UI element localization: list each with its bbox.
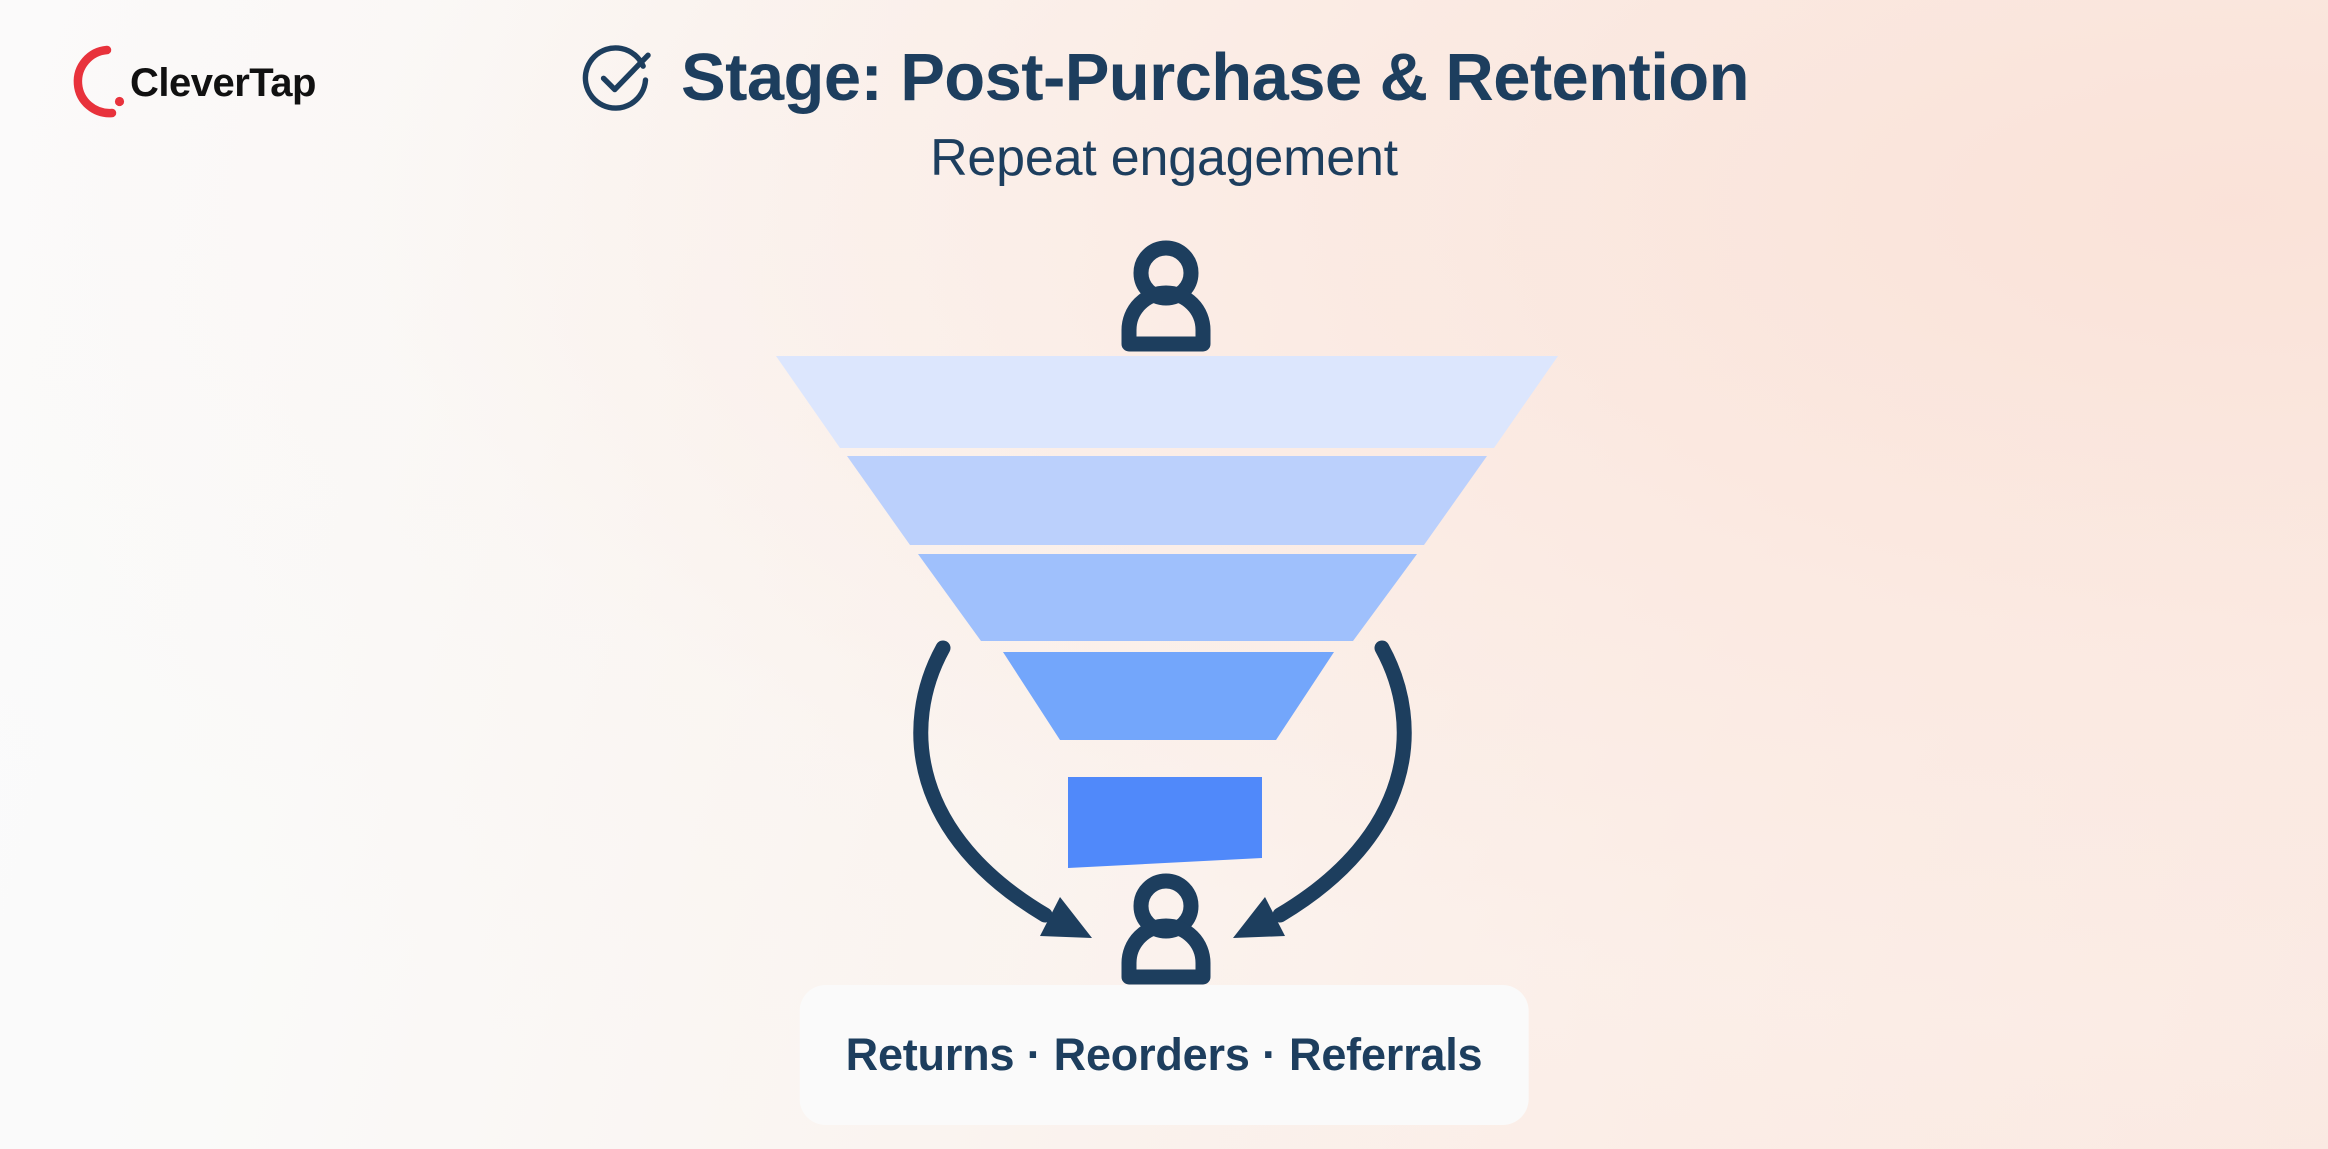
- funnel-diagram: [0, 0, 2328, 1149]
- top-person-icon: [1129, 248, 1203, 344]
- footer-tags-label: Returns · Reorders · Referrals: [846, 1029, 1483, 1081]
- funnel-diagram-svg: [0, 0, 2328, 1149]
- funnel-band-1: [776, 356, 1558, 448]
- funnel-band-3: [918, 554, 1417, 641]
- slide-canvas: CleverTap Stage: Post-Purchase & Retenti…: [0, 0, 2328, 1149]
- bottom-person-icon: [1129, 881, 1203, 977]
- funnel-band-5: [1068, 777, 1262, 868]
- funnel-band-2: [847, 456, 1487, 545]
- funnel-band-4: [1003, 652, 1334, 740]
- footer-tags-pill: Returns · Reorders · Referrals: [800, 985, 1529, 1125]
